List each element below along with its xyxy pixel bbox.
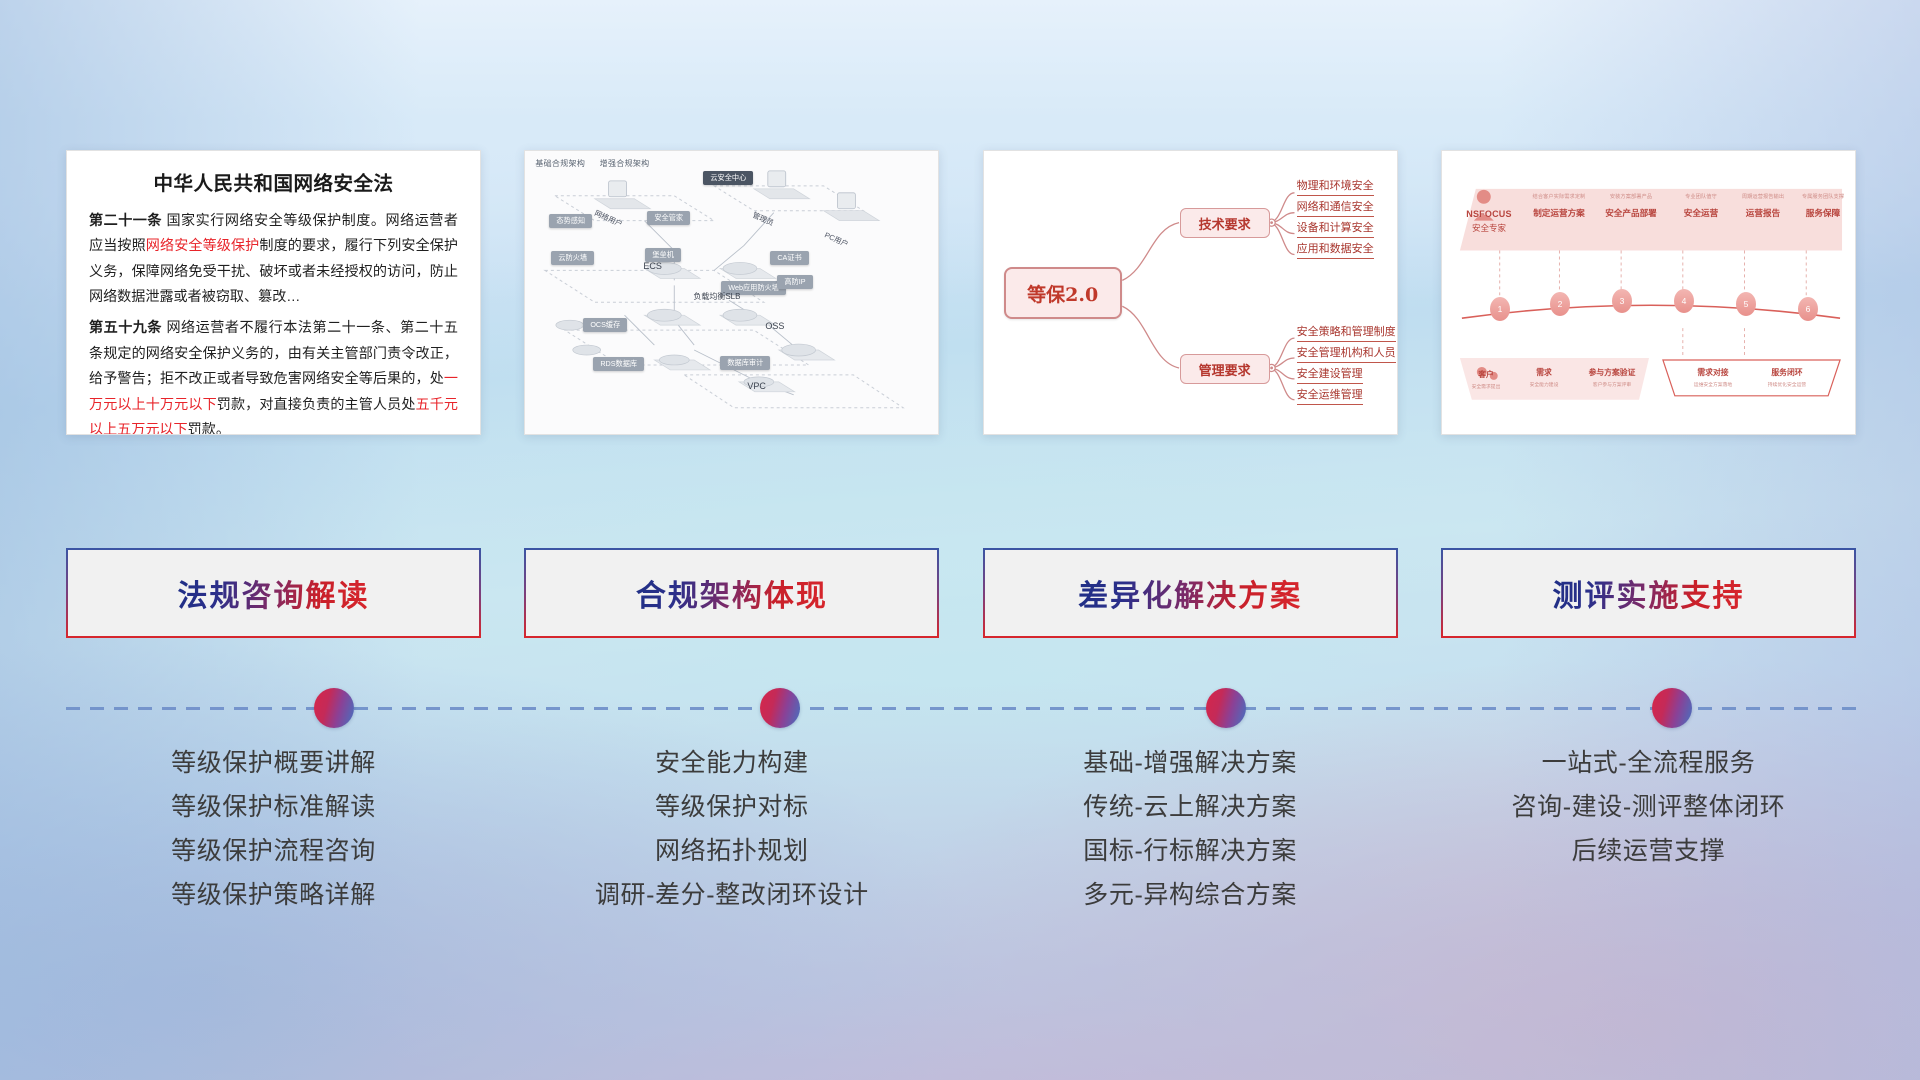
timeline — [66, 688, 1856, 728]
arch-node-vpc: VPC — [747, 381, 766, 391]
nsfocus-brand-sub: 安全专家 — [1458, 222, 1520, 234]
law-article-21-label: 第二十一条 — [89, 212, 162, 228]
list-item: 多元-异构综合方案 — [983, 874, 1398, 918]
arch-node-ca-cert: CA证书 — [770, 251, 808, 265]
nsfocus-footer-0-sub: 安全需求提出 — [1460, 383, 1512, 390]
nsfocus-step-2: 2 — [1550, 292, 1570, 316]
nsfocus-band-0-sub: 结合客户实际需求定制 — [1522, 193, 1596, 200]
list-item: 传统-云上解决方案 — [983, 786, 1398, 830]
arch-node-situational-awareness: 态势感知 — [549, 214, 592, 228]
law-article-59: 第五十九条 网络运营者不履行本法第二十一条、第二十五条规定的网络安全保护义务的，… — [89, 315, 458, 435]
arch-node-anti-ddos-ip: 高防IP — [777, 275, 812, 289]
timeline-dot-0[interactable] — [314, 688, 354, 728]
nsfocus-footer-4-main: 服务闭环 — [1754, 367, 1820, 378]
preview-card-nsfocus[interactable]: NSFOCUS 安全专家 结合客户实际需求定制 制定运营方案 安装方案部署产品 … — [1441, 150, 1856, 435]
mindmap-leaf-network-comm: 网络和通信安全 — [1297, 198, 1374, 217]
nsfocus-footer-2-main: 参与方案验证 — [1574, 367, 1650, 378]
list-item: 等级保护概要讲解 — [66, 742, 481, 786]
nsfocus-band-3-main: 运营报告 — [1730, 207, 1796, 219]
nsfocus-band-1-main: 安全产品部署 — [1594, 207, 1668, 219]
timeline-dot-3[interactable] — [1652, 688, 1692, 728]
arch-node-cloud-security-center: 云安全中心 — [703, 171, 753, 185]
mindmap-leaf-policy-system: 安全策略和管理制度 — [1297, 323, 1396, 342]
nsfocus-footer-2-sub: 客户参与方案评审 — [1574, 381, 1650, 388]
bullet-column-0: 等级保护概要讲解 等级保护标准解读 等级保护流程咨询 等级保护策略详解 — [66, 742, 481, 918]
mindmap-leaf-app-data: 应用和数据安全 — [1297, 240, 1374, 259]
mindmap-branch-management: 管理要求 — [1180, 354, 1270, 384]
timeline-dot-1[interactable] — [760, 688, 800, 728]
nsfocus-band-1-sub: 安装方案部署产品 — [1594, 193, 1668, 200]
title-text-3: 测评实施支持 — [1552, 571, 1744, 615]
law-document: 中华人民共和国网络安全法 第二十一条 国家实行网络安全等级保护制度。网络运营者应… — [67, 151, 480, 435]
arch-node-rds: RDS数据库 — [593, 357, 644, 371]
nsfocus-footer-1: 需求 安全能力建设 — [1518, 367, 1570, 388]
arch-node-bastion-host: 堡垒机 — [645, 248, 681, 262]
list-item: 调研-差分-整改闭环设计 — [524, 874, 939, 918]
nsfocus-step-6: 6 — [1798, 297, 1818, 321]
arch-node-oss: OSS — [765, 321, 784, 331]
nsfocus-footer-1-sub: 安全能力建设 — [1518, 381, 1570, 388]
nsfocus-band-4-sub: 专属服务团队支撑 — [1792, 193, 1854, 200]
list-item: 基础-增强解决方案 — [983, 742, 1398, 786]
architecture-diagram: 基础合规架构 增强合规架构 — [525, 151, 938, 434]
mindmap-root: 等保2.0 — [1004, 267, 1122, 319]
nsfocus-brand: NSFOCUS — [1458, 209, 1520, 219]
bullet-columns-row: 等级保护概要讲解 等级保护标准解读 等级保护流程咨询 等级保护策略详解 安全能力… — [66, 742, 1856, 918]
list-item: 网络拓扑规划 — [524, 830, 939, 874]
list-item: 后续运营支撑 — [1441, 830, 1856, 874]
list-item: 等级保护流程咨询 — [66, 830, 481, 874]
nsfocus-footer-3-sub: 运维安全方案落地 — [1680, 381, 1746, 388]
mindmap-diagram: 等保2.0 技术要求 管理要求 物理和环境安全 网络和通信安全 设备和计算安全 … — [984, 151, 1397, 434]
preview-card-law[interactable]: 中华人民共和国网络安全法 第二十一条 国家实行网络安全等级保护制度。网络运营者应… — [66, 150, 481, 435]
nsfocus-step-4: 4 — [1674, 289, 1694, 313]
title-text-1: 合规架构体现 — [636, 571, 828, 615]
bullet-column-1: 安全能力构建 等级保护对标 网络拓扑规划 调研-差分-整改闭环设计 — [524, 742, 939, 918]
nsfocus-step-3: 3 — [1612, 289, 1632, 313]
list-item: 等级保护标准解读 — [66, 786, 481, 830]
nsfocus-band-4-main: 服务保障 — [1792, 207, 1854, 219]
nsfocus-band-2-main: 安全运营 — [1668, 207, 1734, 219]
list-item: 等级保护对标 — [524, 786, 939, 830]
nsfocus-footer-4-sub: 持续优化安全运营 — [1754, 381, 1820, 388]
slide-stage: 中华人民共和国网络安全法 第二十一条 国家实行网络安全等级保护制度。网络运营者应… — [0, 0, 1920, 1080]
law-article-59-post: 罚款。 — [188, 421, 230, 435]
list-item: 咨询-建设-测评整体闭环 — [1441, 786, 1856, 830]
arch-node-ecs: ECS — [643, 261, 662, 271]
nsfocus-footer-4: 服务闭环 持续优化安全运营 — [1754, 367, 1820, 388]
mindmap-leaf-device-compute: 设备和计算安全 — [1297, 219, 1374, 238]
nsfocus-band-0: 结合客户实际需求定制 制定运营方案 — [1522, 193, 1596, 219]
arch-node-slb: 负载均衡SLB — [693, 291, 740, 302]
mindmap-leaf-construction-mgmt: 安全建设管理 — [1297, 365, 1363, 384]
law-article-59-mid: 罚款，对直接负责的主管人员处 — [217, 396, 416, 412]
mindmap-branch-technical: 技术要求 — [1180, 208, 1270, 238]
title-box-evaluation-support[interactable]: 测评实施支持 — [1441, 548, 1856, 638]
title-box-differentiated-solution[interactable]: 差异化解决方案 — [983, 548, 1398, 638]
bullet-column-2: 基础-增强解决方案 传统-云上解决方案 国标-行标解决方案 多元-异构综合方案 — [983, 742, 1398, 918]
nsfocus-band-0-main: 制定运营方案 — [1522, 207, 1596, 219]
nsfocus-band-2: 专业团队值守 安全运营 — [1668, 193, 1734, 219]
list-item: 安全能力构建 — [524, 742, 939, 786]
nsfocus-step-5: 5 — [1736, 292, 1756, 316]
arch-node-cloud-firewall: 云防火墙 — [551, 251, 594, 265]
nsfocus-footer-1-main: 需求 — [1518, 367, 1570, 378]
law-title: 中华人民共和国网络安全法 — [89, 167, 458, 196]
nsfocus-footer-0-main: 客户 — [1460, 369, 1512, 380]
arch-node-security-butler: 安全管家 — [647, 211, 690, 225]
list-item: 国标-行标解决方案 — [983, 830, 1398, 874]
nsfocus-footer-3-main: 需求对接 — [1680, 367, 1746, 378]
title-box-compliance-architecture[interactable]: 合规架构体现 — [524, 548, 939, 638]
nsfocus-band-4: 专属服务团队支撑 服务保障 — [1792, 193, 1854, 219]
mindmap-leaf-physical-env: 物理和环境安全 — [1297, 177, 1374, 196]
title-boxes-row: 法规咨询解读 合规架构体现 差异化解决方案 测评实施支持 — [66, 548, 1856, 638]
list-item: 一站式-全流程服务 — [1441, 742, 1856, 786]
nsfocus-band-1: 安装方案部署产品 安全产品部署 — [1594, 193, 1668, 219]
timeline-dot-2[interactable] — [1206, 688, 1246, 728]
nsfocus-band-3: 周期运营报告输出 运营报告 — [1730, 193, 1796, 219]
title-text-0: 法规咨询解读 — [178, 571, 370, 615]
nsfocus-footer-0: 客户 安全需求提出 — [1460, 369, 1512, 390]
law-article-59-label: 第五十九条 — [89, 319, 162, 335]
law-article-21: 第二十一条 国家实行网络安全等级保护制度。网络运营者应当按照网络安全等级保护制度… — [89, 208, 458, 309]
nsfocus-diagram: NSFOCUS 安全专家 结合客户实际需求定制 制定运营方案 安装方案部署产品 … — [1442, 151, 1855, 434]
law-article-21-highlight: 网络安全等级保护 — [146, 237, 260, 253]
preview-card-mindmap[interactable]: 等保2.0 技术要求 管理要求 物理和环境安全 网络和通信安全 设备和计算安全 … — [983, 150, 1398, 435]
mindmap-leaf-ops-mgmt: 安全运维管理 — [1297, 386, 1363, 405]
mindmap-leaf-org-personnel: 安全管理机构和人员 — [1297, 344, 1396, 363]
arch-node-ocs-cache: OCS缓存 — [583, 318, 627, 332]
bullet-column-3: 一站式-全流程服务 咨询-建设-测评整体闭环 后续运营支撑 — [1441, 742, 1856, 918]
nsfocus-band-3-sub: 周期运营报告输出 — [1730, 193, 1796, 200]
nsfocus-band-2-sub: 专业团队值守 — [1668, 193, 1734, 200]
arch-node-db-audit: 数据库审计 — [720, 356, 770, 370]
title-text-2: 差异化解决方案 — [1078, 571, 1302, 615]
nsfocus-footer-2: 参与方案验证 客户参与方案评审 — [1574, 367, 1650, 388]
preview-cards-row: 中华人民共和国网络安全法 第二十一条 国家实行网络安全等级保护制度。网络运营者应… — [66, 150, 1856, 435]
nsfocus-footer-3: 需求对接 运维安全方案落地 — [1680, 367, 1746, 388]
title-box-regulation-consulting[interactable]: 法规咨询解读 — [66, 548, 481, 638]
list-item: 等级保护策略详解 — [66, 874, 481, 918]
preview-card-architecture[interactable]: 基础合规架构 增强合规架构 — [524, 150, 939, 435]
nsfocus-step-1: 1 — [1490, 297, 1510, 321]
